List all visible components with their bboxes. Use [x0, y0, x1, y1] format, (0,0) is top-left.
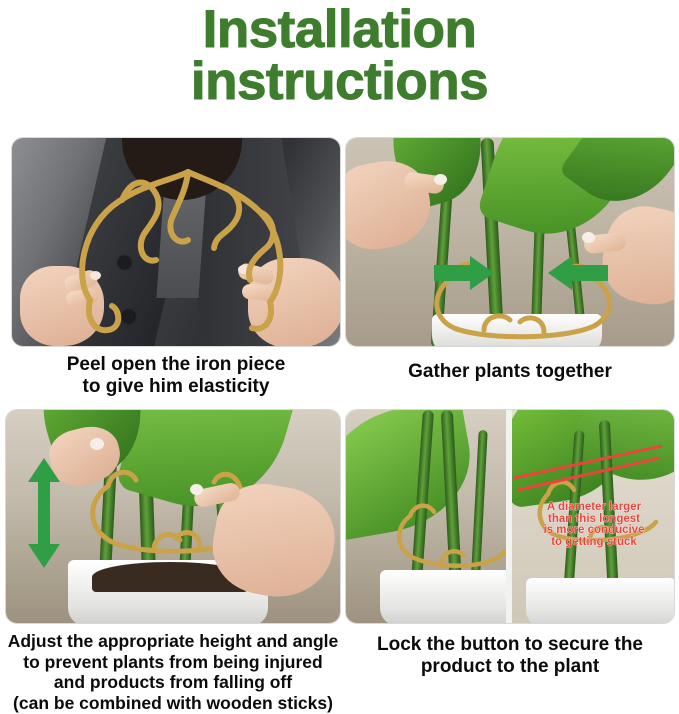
step-panel-4: A diameter larger than this longest is m… — [345, 409, 675, 679]
arrow-up-down-icon — [26, 458, 62, 568]
step-3-caption-line-4: (can be combined with wooden sticks) — [2, 693, 344, 714]
step-2-photo — [345, 137, 675, 347]
step-4-subphoto-right: A diameter larger than this longest is m… — [512, 410, 675, 624]
plant-pot — [526, 578, 675, 624]
step-1-caption-line-1: Peel open the iron piece — [11, 354, 341, 376]
step-3-caption: Adjust the appropriate height and angle … — [2, 631, 344, 714]
step-4-caption-line-2: product to the plant — [345, 656, 675, 678]
step-panel-2: Gather plants together — [345, 137, 675, 383]
product-instruction-sheet: Installation instructions — [0, 0, 679, 707]
arrow-right-icon — [434, 256, 496, 290]
page-title: Installation instructions — [0, 0, 679, 108]
step-4-subphoto-left — [346, 410, 506, 624]
step-3-caption-line-2: to prevent plants from being injured — [2, 652, 344, 673]
fingernail — [582, 232, 595, 243]
step-1-caption: Peel open the iron piece to give him ela… — [11, 354, 341, 399]
red-annotation: A diameter larger than this longest is m… — [512, 502, 675, 548]
step-3-caption-line-3: and products from falling off — [2, 672, 344, 693]
plant-pot — [380, 570, 506, 624]
step-1-photo — [11, 137, 341, 347]
red-annotation-line-4: to getting stuck — [512, 537, 675, 549]
step-3-photo — [5, 409, 341, 624]
step-3-caption-line-1: Adjust the appropriate height and angle — [2, 631, 344, 652]
step-4-photo: A diameter larger than this longest is m… — [345, 409, 675, 624]
page-title-line-2: instructions — [0, 56, 679, 108]
step-4-caption: Lock the button to secure the product to… — [345, 634, 675, 679]
step-4-caption-line-1: Lock the button to secure the — [345, 634, 675, 656]
red-annotation-line-1: A diameter larger — [512, 502, 675, 514]
arrow-left-icon — [546, 256, 608, 290]
step-panel-3: Adjust the appropriate height and angle … — [5, 409, 335, 714]
gold-wire-clip — [390, 498, 506, 578]
step-2-caption-line-1: Gather plants together — [345, 361, 675, 383]
fingernail — [190, 484, 203, 495]
step-1-caption-line-2: to give him elasticity — [11, 376, 341, 398]
fingernail — [434, 174, 447, 185]
step-panel-1: Peel open the iron piece to give him ela… — [11, 137, 341, 399]
red-annotation-line-3: is more conducive — [512, 525, 675, 537]
gold-wire-clip — [60, 160, 310, 347]
page-title-line-1: Installation — [203, 0, 477, 59]
fingernail — [90, 438, 104, 450]
step-2-caption: Gather plants together — [345, 361, 675, 383]
